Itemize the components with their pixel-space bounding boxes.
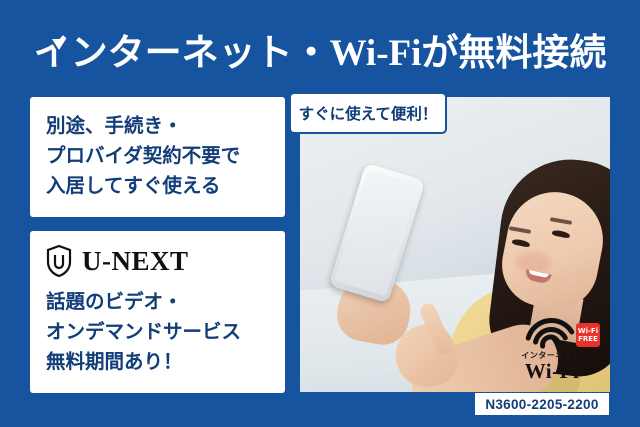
unext-logo: U-NEXT	[46, 245, 269, 277]
headline-latin: Wi-Fi	[330, 33, 422, 74]
feature-card-internet-text: 別途、手続き・ プロバイダ契約不要で 入居してすぐ使える	[46, 111, 269, 201]
wifi-badge: インターネット Wi-Fi Wi-Fi FREE	[520, 315, 600, 385]
feature-card-unext: U-NEXT 話題のビデオ・ オンデマンドサービス 無料期間あり！	[30, 231, 285, 393]
left-column: 別途、手続き・ プロバイダ契約不要で 入居してすぐ使える U-NEXT 話題のビ…	[30, 97, 285, 393]
wifi-signal-icon	[524, 315, 576, 349]
wifi-badge-word: Wi-Fi	[520, 359, 584, 384]
wifi-free-chip-line2: FREE	[576, 335, 600, 343]
feature-card-internet: 別途、手続き・ プロバイダ契約不要で 入居してすぐ使える	[30, 97, 285, 217]
phone-number-text: N3600-2205-2200	[485, 397, 598, 412]
wifi-promo-banner: インターネット・Wi-Fiが無料接続 別途、手続き・ プロバイダ契約不要で 入居…	[0, 0, 640, 427]
unext-wordmark: U-NEXT	[82, 246, 189, 277]
speech-bubble-tail-inner	[52, 39, 66, 50]
headline-part1: インターネット・	[34, 31, 330, 74]
phone-number-box: N3600-2205-2200	[474, 392, 610, 416]
page-title: インターネット・Wi-Fiが無料接続	[0, 22, 640, 76]
headline-part2: が無料接続	[421, 31, 606, 74]
wifi-free-chip: Wi-Fi FREE	[576, 323, 600, 347]
wifi-free-chip-line1: Wi-Fi	[576, 327, 600, 335]
shield-icon	[46, 245, 72, 277]
speech-bubble: すぐに使えて便利！	[289, 92, 447, 134]
speech-bubble-text: すぐに使えて便利！	[299, 102, 438, 124]
feature-card-unext-text: 話題のビデオ・ オンデマンドサービス 無料期間あり！	[46, 287, 269, 377]
